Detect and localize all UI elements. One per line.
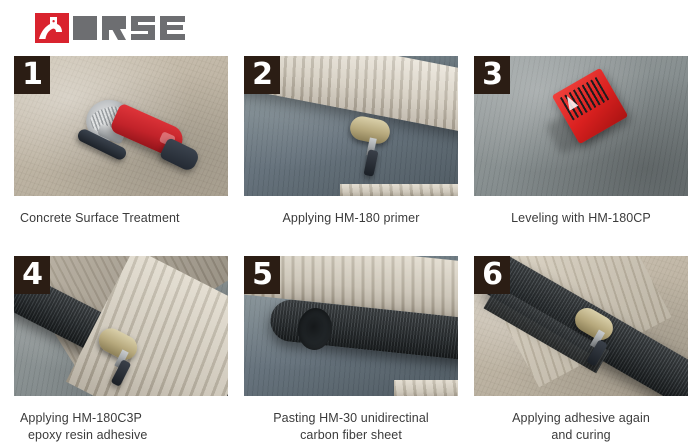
step-1-caption: Concrete Surface Treatment: [14, 210, 228, 227]
caption-line: Pasting HM-30 unidirectinal: [244, 410, 458, 427]
process-step-5: 5 Pasting HM-30 unidirectinal carbon fib…: [244, 256, 458, 444]
process-steps-grid-row2: 4 Applying HM-180C3P epoxy resin adhesiv…: [14, 248, 690, 444]
caption-line: Applying HM-180C3P: [20, 410, 228, 427]
step-5-caption: Pasting HM-30 unidirectinal carbon fiber…: [244, 410, 458, 444]
step-6-photo: 6: [474, 256, 688, 396]
caption-line: and curing: [474, 427, 688, 444]
step-number-badge: 6: [474, 256, 510, 294]
step-number-badge: 4: [14, 256, 50, 294]
step-4-caption: Applying HM-180C3P epoxy resin adhesive: [14, 410, 228, 444]
process-step-4: 4 Applying HM-180C3P epoxy resin adhesiv…: [14, 256, 228, 444]
step-4-photo: 4: [14, 256, 228, 396]
process-step-2: 2 Applying HM-180 primer: [244, 56, 458, 227]
step-6-caption: Applying adhesive again and curing: [474, 410, 688, 444]
step-number-badge: 2: [244, 56, 280, 94]
horse-head-logo-icon: [35, 13, 69, 43]
process-step-3: 3 Leveling with HM-180CP: [474, 56, 688, 227]
caption-line: Applying adhesive again: [474, 410, 688, 427]
step-2-photo: 2: [244, 56, 458, 196]
process-step-6: 6 Applying adhesive again and curing: [474, 256, 688, 444]
brand-logo: [35, 13, 189, 43]
step-number-badge: 3: [474, 56, 510, 94]
step-1-photo: 1: [14, 56, 228, 196]
lower-slab-edge: [340, 184, 458, 196]
step-2-caption: Applying HM-180 primer: [244, 210, 458, 227]
caption-line: Applying HM-180 primer: [244, 210, 458, 227]
process-steps-grid-row1: 1 Concrete Surface Treatment 2 Applying …: [14, 56, 690, 227]
process-step-1: 1 Concrete Surface Treatment: [14, 56, 228, 227]
step-number-badge: 5: [244, 256, 280, 294]
step-3-caption: Leveling with HM-180CP: [474, 210, 688, 227]
brand-wordmark: [71, 13, 189, 43]
step-3-photo: 3: [474, 56, 688, 196]
caption-line: Concrete Surface Treatment: [20, 210, 228, 227]
caption-line: Leveling with HM-180CP: [474, 210, 688, 227]
lower-slab-edge: [394, 380, 458, 396]
step-number-badge: 1: [14, 56, 50, 94]
step-5-photo: 5: [244, 256, 458, 396]
caption-line: carbon fiber sheet: [244, 427, 458, 444]
caption-line: epoxy resin adhesive: [20, 427, 228, 444]
